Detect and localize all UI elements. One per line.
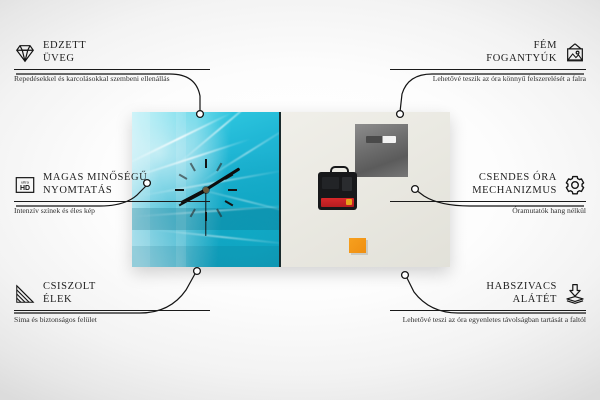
callout-header: CSISZOLTÉLEK xyxy=(14,281,210,307)
callout-description: Sima és biztonságos felület xyxy=(14,315,210,325)
callout-description: Óramutatók hang nélkül xyxy=(390,206,586,216)
callout-title: FÉMFOGANTYÚK xyxy=(486,40,557,66)
diamond-icon xyxy=(14,42,36,64)
callout-rule xyxy=(390,201,586,202)
battery xyxy=(321,198,354,207)
callout-csendes-ora-mechanizmus[interactable]: CSENDES ÓRAMECHANIZMUS Óramutatók hang n… xyxy=(390,172,586,216)
gear-icon xyxy=(564,174,586,196)
callout-rule xyxy=(14,310,210,311)
callout-description: Repedésekkel és karcolásokkal szembeni e… xyxy=(14,74,210,84)
foam-pad-arrow-icon xyxy=(564,283,586,305)
callout-rule xyxy=(14,69,210,70)
callout-header: HABSZIVACSALÁTÉT xyxy=(390,281,586,307)
feather-streak xyxy=(152,229,279,246)
connector-endpoint-3 xyxy=(194,268,201,275)
callout-header: FÉMFOGANTYÚK xyxy=(390,40,586,66)
svg-text:HD: HD xyxy=(20,185,30,192)
ultra-hd-icon: ultra HD xyxy=(14,174,36,196)
picture-hanger-icon xyxy=(564,42,586,64)
callout-csiszolt-elek[interactable]: CSISZOLTÉLEK Sima és biztonságos felület xyxy=(14,281,210,325)
callout-header: ultra HD MAGAS MINŐSÉGŰNYOMTATÁS xyxy=(14,172,210,198)
callout-description: Lehetővé teszi az óra egyenletes távolsá… xyxy=(390,315,586,325)
metal-hanger-plate xyxy=(355,124,408,177)
callout-rule xyxy=(14,201,210,202)
battery-plus-terminal xyxy=(346,199,352,205)
callout-header: EDZETTÜVEG xyxy=(14,40,210,66)
callout-title: CSISZOLTÉLEK xyxy=(43,281,96,307)
callout-title: HABSZIVACSALÁTÉT xyxy=(486,281,557,307)
callout-magas-minosegu-nyomtatas[interactable]: ultra HD MAGAS MINŐSÉGŰNYOMTATÁS Intenzí… xyxy=(14,172,210,216)
callout-habszivacs-alatet[interactable]: HABSZIVACSALÁTÉT Lehetővé teszi az óra e… xyxy=(390,281,586,325)
foam-spacer-pad xyxy=(349,238,366,253)
beveled-edge-icon xyxy=(14,283,36,305)
callout-title: CSENDES ÓRAMECHANIZMUS xyxy=(472,172,557,198)
callout-header: CSENDES ÓRAMECHANIZMUS xyxy=(390,172,586,198)
mechanism-panel xyxy=(322,177,339,189)
callout-fem-fogantyuk[interactable]: FÉMFOGANTYÚK Lehetővé teszik az óra könn… xyxy=(390,40,586,84)
face-band-dark xyxy=(132,246,279,267)
hanger-slot xyxy=(366,136,396,143)
callout-description: Lehetővé teszik az óra könnyű felszerelé… xyxy=(390,74,586,84)
mechanism-panel xyxy=(342,177,352,191)
connector-endpoint-6 xyxy=(402,272,409,279)
callout-title: MAGAS MINŐSÉGŰNYOMTATÁS xyxy=(43,172,147,198)
callout-title: EDZETTÜVEG xyxy=(43,40,86,66)
quiet-clock-mechanism xyxy=(318,172,357,210)
svg-text:ultra: ultra xyxy=(21,179,30,184)
callout-rule xyxy=(390,69,586,70)
infographic-canvas: EDZETTÜVEG Repedésekkel és karcolásokkal… xyxy=(0,0,600,400)
callout-description: Intenzív színek és éles kép xyxy=(14,206,210,216)
callout-rule xyxy=(390,310,586,311)
callout-edzett-uveg[interactable]: EDZETTÜVEG Repedésekkel és karcolásokkal… xyxy=(14,40,210,84)
mechanism-hook xyxy=(330,166,349,176)
